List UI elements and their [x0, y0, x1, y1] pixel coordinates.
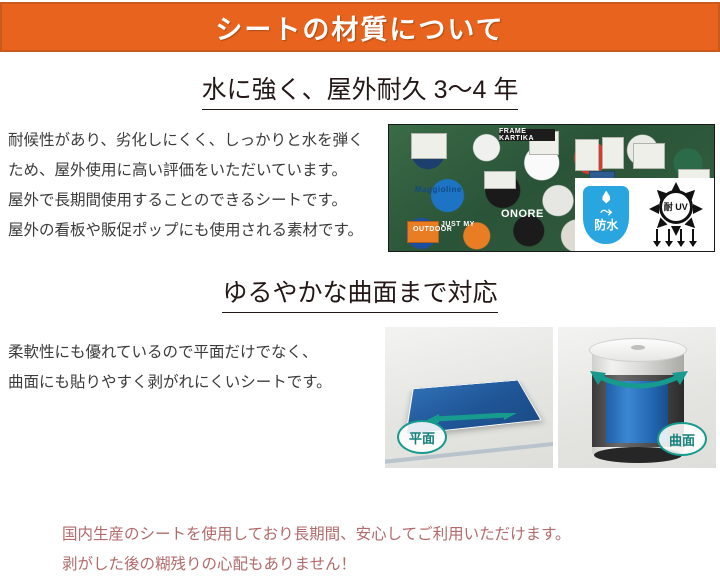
footer-line: 剥がした後の糊残りの心配もありません！ — [62, 550, 571, 580]
section-heading-curve: ゆるやかな曲面まで対応 — [0, 273, 720, 309]
paragraph-line: 屋外の看板や販促ポップにも使用される素材です。 — [8, 216, 364, 246]
badge-flat-label: 平面 — [397, 420, 447, 454]
water-drop-icon — [601, 191, 611, 204]
footer-note: 国内生産のシートを使用しており長期間、安心してご利用いただけます。 剥がした後の… — [62, 520, 571, 580]
paragraph-line: 耐候性があり、劣化しにくく、しっかりと水を弾く — [8, 126, 364, 156]
paragraph-line: ため、屋外使用に高い評価をいただいています。 — [8, 156, 364, 186]
section-paragraph-water: 耐候性があり、劣化しにくく、しっかりと水を弾く ため、屋外使用に高い評価をいただ… — [8, 126, 364, 246]
section-paragraph-curve: 柔軟性にも優れているので平面だけでなく、 曲面にも貼りやすく剥がれにくいシートで… — [8, 338, 332, 398]
sticker-text-just-my: JUST MY — [441, 221, 475, 228]
section-heading-water-text: 水に強く、屋外耐久 3〜4 年 — [202, 76, 519, 110]
waterproof-label: 防水 — [594, 219, 618, 232]
cylinder-lid — [589, 338, 687, 362]
curved-surface-photo: 曲面 — [558, 327, 716, 468]
uv-down-ray-icon — [692, 229, 694, 246]
paragraph-line: 曲面にも貼りやすく剥がれにくいシートです。 — [8, 368, 332, 398]
sticker-shape — [575, 139, 599, 171]
paragraph-line: 屋外で長期間使用することのできるシートです。 — [8, 186, 364, 216]
uv-label: 耐 UV — [659, 190, 693, 224]
flat-surface-photo: 平面 — [385, 327, 553, 468]
sun-ray-icon — [649, 204, 659, 214]
uv-resistant-icon: 耐 UV — [646, 184, 706, 246]
sticker-shape — [633, 143, 665, 169]
water-repel-arrow-icon: ⤳ — [600, 205, 612, 218]
section-heading-curve-text: ゆるやかな曲面まで対応 — [222, 279, 497, 313]
page-title: シートの材質について — [215, 8, 504, 47]
sticker-shape — [602, 137, 624, 169]
uv-down-ray-icon — [668, 229, 670, 246]
curved-double-arrow-icon — [586, 367, 692, 395]
sticker-text-frame-kartika: FRAME KARTIKA — [499, 129, 555, 141]
uv-down-ray-icon — [656, 229, 658, 246]
cylinder-lid-knob — [631, 345, 645, 350]
sun-ray-icon — [693, 204, 703, 214]
sticker-shape — [484, 171, 516, 189]
sticker-text-onore: ONORE — [501, 208, 544, 220]
sticker-photo: FRAME KARTIKA ONORE Maggioline OUTDOOR J… — [388, 124, 715, 252]
footer-line: 国内生産のシートを使用しており長期間、安心してご利用いただけます。 — [62, 520, 571, 550]
double-arrow-icon — [425, 413, 517, 423]
feature-icon-panel: ⤳ 防水 耐 UV — [575, 178, 714, 251]
sticker-shape — [411, 133, 447, 159]
waterproof-icon: ⤳ 防水 — [583, 186, 629, 244]
badge-curve-label: 曲面 — [657, 422, 707, 456]
sticker-text-maggioline: Maggioline — [415, 185, 462, 194]
uv-down-ray-icon — [680, 229, 682, 246]
paragraph-line: 柔軟性にも優れているので平面だけでなく、 — [8, 338, 332, 368]
header-banner: シートの材質について — [0, 2, 720, 52]
section-heading-water: 水に強く、屋外耐久 3〜4 年 — [0, 70, 720, 106]
